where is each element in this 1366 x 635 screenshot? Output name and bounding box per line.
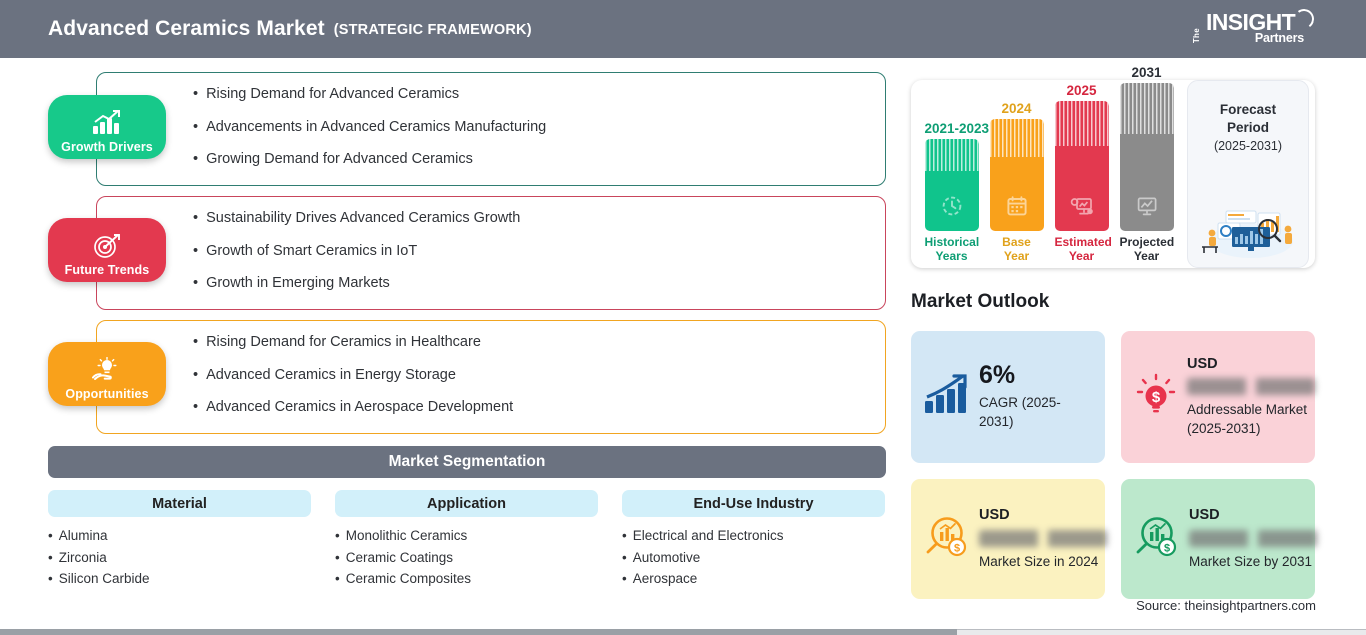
bullet-item: Rising Demand for Advanced Ceramics xyxy=(193,87,885,102)
timeline-bar-bottom xyxy=(925,171,979,232)
horizontal-scrollbar-track[interactable] xyxy=(0,629,1366,635)
timeline-bar xyxy=(990,119,1044,231)
outlook-card-text: 6% CAGR (2025-2031) xyxy=(979,363,1093,431)
timeline-bar-top xyxy=(1120,83,1174,133)
svg-text:$: $ xyxy=(1164,542,1170,554)
clock-history-icon xyxy=(941,195,963,217)
timeline-category-label: Projected Year xyxy=(1120,236,1174,264)
pillar-bullets-opportunities: Rising Demand for Ceramics in Healthcare… xyxy=(97,321,885,415)
badge-opportunities[interactable]: Opportunities xyxy=(48,342,166,406)
usd-label: USD xyxy=(1189,507,1317,524)
pillar-box-opportunities: Rising Demand for Ceramics in Healthcare… xyxy=(96,320,886,434)
market-size-2031-label: Market Size by 2031 xyxy=(1189,552,1317,571)
outlook-card-text: USD Market Size in 2024 xyxy=(979,507,1107,571)
segmentation-column-header[interactable]: End-Use Industry xyxy=(622,490,885,517)
segmentation-columns: Material Alumina Zirconia Silicon Carbid… xyxy=(48,490,886,594)
page-subtitle: (STRATEGIC FRAMEWORK) xyxy=(334,22,532,38)
list-item: Zirconia xyxy=(48,551,311,565)
market-outlook-title: Market Outlook xyxy=(911,291,1049,313)
segmentation-column-header[interactable]: Material xyxy=(48,490,311,517)
segmentation-column-header[interactable]: Application xyxy=(335,490,598,517)
timeline-bars: 2021-2023 Historical Years 2024 xyxy=(911,80,1187,268)
logo-the: The xyxy=(1193,28,1201,43)
timeline-bar xyxy=(1120,83,1174,231)
usd-label: USD xyxy=(979,507,1107,524)
insight-partners-logo: The INSIGHT Partners xyxy=(1192,11,1312,49)
horizontal-scrollbar-thumb[interactable] xyxy=(0,629,957,635)
timeline-column-historical: 2021-2023 Historical Years xyxy=(925,122,979,264)
outlook-card-text: USD Market Size by 2031 xyxy=(1189,507,1317,571)
bullet-item: Sustainability Drives Advanced Ceramics … xyxy=(193,211,885,226)
timeline-column-estimated: 2025 Estimated Year xyxy=(1055,84,1109,264)
bar-chart-growth-icon xyxy=(92,110,122,136)
magnifier-bar-dollar-icon: $ xyxy=(923,514,971,565)
list-item: Aerospace xyxy=(622,572,885,586)
timeline-category-label: Historical Years xyxy=(925,236,979,264)
timeline-bar-bottom xyxy=(1120,134,1174,232)
segmentation-list: Monolithic Ceramics Ceramic Coatings Cer… xyxy=(335,529,598,586)
outlook-card-cagr[interactable]: 6% CAGR (2025-2031) xyxy=(911,331,1105,463)
svg-text:$: $ xyxy=(954,542,960,554)
list-item: Monolithic Ceramics xyxy=(335,529,598,543)
pillar-box-growth-drivers: Rising Demand for Advanced Ceramics Adva… xyxy=(96,72,886,186)
bullet-item: Rising Demand for Ceramics in Healthcare xyxy=(193,335,885,350)
addressable-market-label: Addressable Market (2025-2031) xyxy=(1187,400,1315,438)
timeline-category-label: Base Year xyxy=(990,236,1044,264)
forecast-range: (2025-2031) xyxy=(1214,139,1282,153)
outlook-card-addressable-market[interactable]: $ USD Addressable Market (2025-2031) xyxy=(1121,331,1315,463)
page-header: Advanced Ceramics Market (STRATEGIC FRAM… xyxy=(0,0,1366,58)
timeline-bar-top xyxy=(1055,101,1109,145)
blurred-value xyxy=(979,530,1107,547)
market-size-2024-label: Market Size in 2024 xyxy=(979,552,1107,571)
usd-label: USD xyxy=(1187,356,1315,373)
pillar-bullets-growth-drivers: Rising Demand for Advanced Ceramics Adva… xyxy=(97,73,885,167)
list-item: Alumina xyxy=(48,529,311,543)
timeline-column-base: 2024 Base Year xyxy=(990,102,1044,264)
list-item: Electrical and Electronics xyxy=(622,529,885,543)
outlook-card-text: USD Addressable Market (2025-2031) xyxy=(1187,356,1315,439)
projection-screen-icon xyxy=(1135,195,1159,217)
segmentation-column-end-use-industry: End-Use Industry Electrical and Electron… xyxy=(622,490,885,594)
calendar-icon xyxy=(1006,195,1028,217)
timeline-bar xyxy=(925,139,979,231)
timeline-bar-bottom xyxy=(1055,146,1109,232)
timeline-bar-bottom xyxy=(990,157,1044,231)
forecast-title-line1: Forecast xyxy=(1220,101,1276,119)
forecast-title-line2: Period xyxy=(1227,119,1269,137)
pillar-box-future-trends: Sustainability Drives Advanced Ceramics … xyxy=(96,196,886,310)
lightbulb-dollar-icon: $ xyxy=(1133,372,1179,423)
outlook-card-market-size-2024[interactable]: $ USD Market Size in 2024 xyxy=(911,479,1105,599)
bullet-item: Growing Demand for Advanced Ceramics xyxy=(193,152,885,167)
badge-future-trends[interactable]: Future Trends xyxy=(48,218,166,282)
segmentation-column-material: Material Alumina Zirconia Silicon Carbid… xyxy=(48,490,311,594)
segmentation-header: Market Segmentation xyxy=(48,446,886,478)
list-item: Ceramic Composites xyxy=(335,572,598,586)
logo-partners: Partners xyxy=(1255,32,1304,45)
forecast-gear-icon xyxy=(1070,195,1094,217)
timeline-bar-top xyxy=(990,119,1044,157)
page-title: Advanced Ceramics Market xyxy=(48,17,325,41)
list-item: Automotive xyxy=(622,551,885,565)
cagr-label: CAGR (2025-2031) xyxy=(979,393,1093,431)
svg-text:$: $ xyxy=(1152,389,1161,406)
timeline-column-projected: 2031 Projected Year xyxy=(1120,66,1174,264)
bullet-item: Advancements in Advanced Ceramics Manufa… xyxy=(193,120,885,135)
target-dart-icon xyxy=(93,233,121,259)
logo-arc-icon xyxy=(1293,8,1316,31)
analytics-dashboard-illustration xyxy=(1196,197,1302,259)
blurred-value xyxy=(1189,530,1317,547)
infographic-page: Advanced Ceramics Market (STRATEGIC FRAM… xyxy=(0,0,1366,635)
cagr-value: 6% xyxy=(979,363,1093,388)
timeline-year-label: 2025 xyxy=(1055,84,1109,99)
timeline-year-label: 2021-2023 xyxy=(925,122,979,137)
segmentation-list: Alumina Zirconia Silicon Carbide xyxy=(48,529,311,586)
badge-label: Growth Drivers xyxy=(61,141,153,154)
bullet-item: Growth in Emerging Markets xyxy=(193,276,885,291)
study-period-timeline-chart: 2021-2023 Historical Years 2024 xyxy=(911,80,1315,268)
outlook-card-market-size-2031[interactable]: $ USD Market Size by 2031 xyxy=(1121,479,1315,599)
list-item: Silicon Carbide xyxy=(48,572,311,586)
timeline-category-label: Estimated Year xyxy=(1055,236,1109,264)
bar-chart-arrow-icon xyxy=(923,373,971,422)
hand-lightbulb-icon xyxy=(92,357,122,383)
list-item: Ceramic Coatings xyxy=(335,551,598,565)
badge-growth-drivers[interactable]: Growth Drivers xyxy=(48,95,166,159)
timeline-year-label: 2024 xyxy=(990,102,1044,117)
bullet-item: Advanced Ceramics in Energy Storage xyxy=(193,368,885,383)
timeline-bar-top xyxy=(925,139,979,170)
source-attribution: Source: theinsightpartners.com xyxy=(1136,598,1316,613)
segmentation-list: Electrical and Electronics Automotive Ae… xyxy=(622,529,885,586)
badge-label: Future Trends xyxy=(65,264,150,277)
segmentation-column-application: Application Monolithic Ceramics Ceramic … xyxy=(335,490,598,594)
timeline-bar xyxy=(1055,101,1109,231)
forecast-period-panel: Forecast Period (2025-2031) xyxy=(1187,80,1309,268)
blurred-value xyxy=(1187,378,1315,395)
pillar-bullets-future-trends: Sustainability Drives Advanced Ceramics … xyxy=(97,197,885,291)
bullet-item: Advanced Ceramics in Aerospace Developme… xyxy=(193,400,885,415)
magnifier-bar-dollar-icon: $ xyxy=(1133,514,1181,565)
bullet-item: Growth of Smart Ceramics in IoT xyxy=(193,244,885,259)
timeline-year-label: 2031 xyxy=(1120,66,1174,81)
badge-label: Opportunities xyxy=(65,388,148,401)
